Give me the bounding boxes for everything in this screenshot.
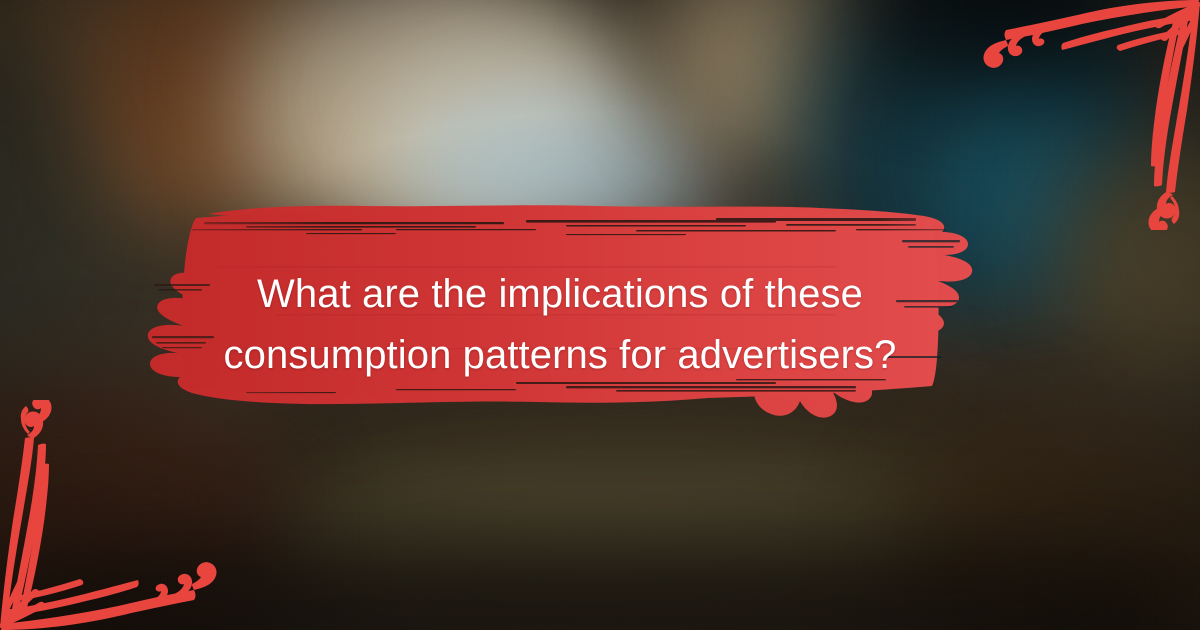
page-title: What are the implications of these consu… xyxy=(150,210,970,440)
headline-line-2: consumption patterns for advertisers? xyxy=(224,327,897,384)
headline-line-1: What are the implications of these xyxy=(257,266,863,323)
question-card: What are the implications of these consu… xyxy=(0,0,1200,630)
